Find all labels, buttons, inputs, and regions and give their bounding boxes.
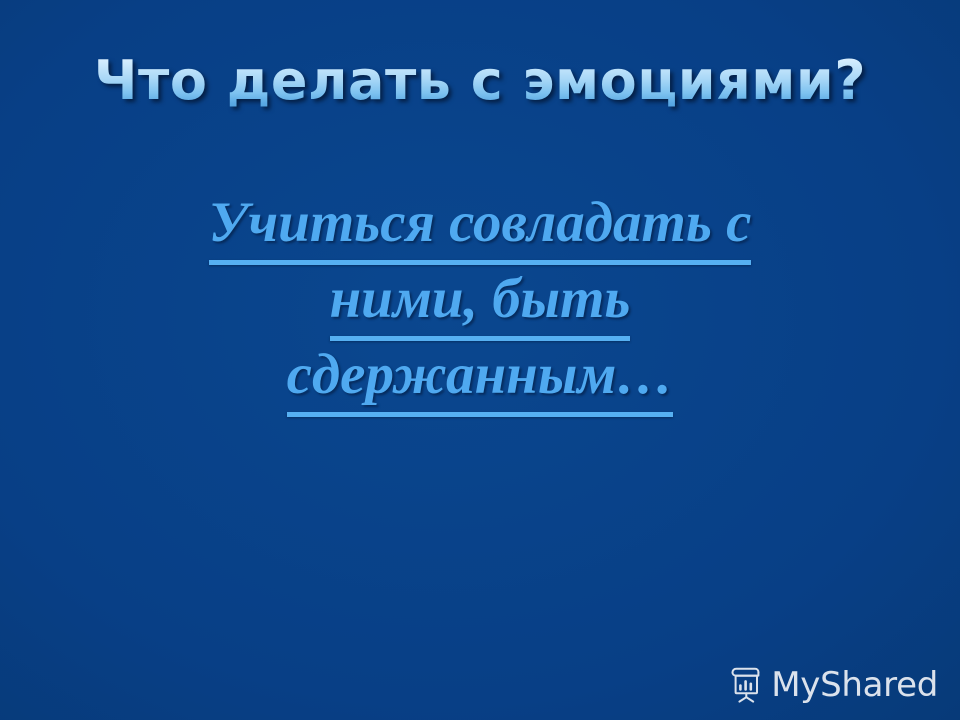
presentation-chart-icon <box>728 666 762 704</box>
body-line-text: Учиться совладать с <box>209 186 752 262</box>
body-line-text: ними, быть <box>330 262 631 338</box>
body-line: ними, быть <box>120 262 840 338</box>
myshared-watermark[interactable]: MyShared <box>728 666 938 704</box>
page-title: Что делать с эмоциями? <box>94 52 866 110</box>
presentation-slide: Что делать с эмоциями? Учиться совладать… <box>0 0 960 720</box>
slide-body-text: Учиться совладать с ними, быть сдержанны… <box>120 186 840 414</box>
body-line: сдержанным… <box>120 338 840 414</box>
body-line: Учиться совладать с <box>120 186 840 262</box>
slide-title-container: Что делать с эмоциями? <box>0 52 960 110</box>
myshared-brand-label: MyShared <box>771 668 938 702</box>
body-line-text: сдержанным… <box>287 338 674 414</box>
